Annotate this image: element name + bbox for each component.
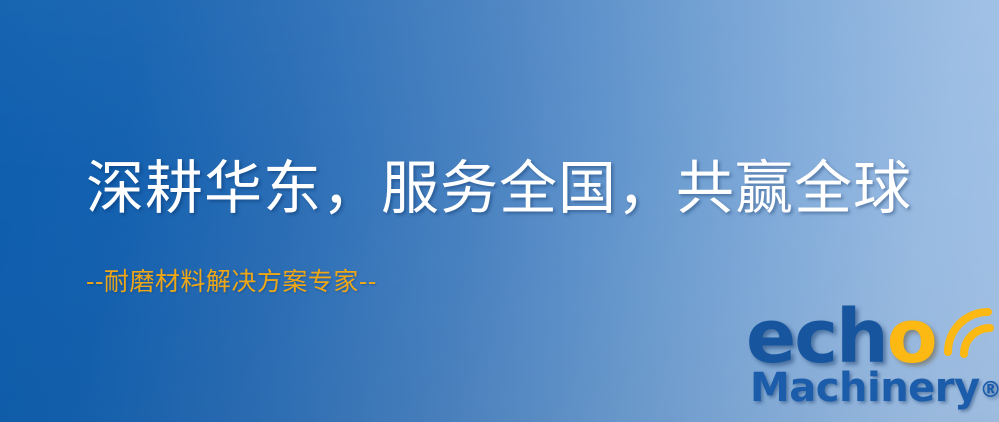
logo-tagline-text: Machinery — [750, 365, 980, 411]
logo-echo-text: echo — [746, 300, 936, 374]
signal-arcs-icon — [930, 294, 999, 364]
logo-tagline: Machinery® — [750, 366, 999, 413]
banner-subtitle: --耐磨材料解决方案专家-- — [86, 266, 377, 298]
company-logo: echo Machinery® — [742, 300, 992, 418]
registered-trademark-icon: ® — [980, 378, 999, 403]
logo-wordmark: echo — [742, 300, 992, 374]
banner-headline: 深耕华东，服务全国，共赢全球 — [86, 155, 912, 221]
promotional-banner: 深耕华东，服务全国，共赢全球 --耐磨材料解决方案专家-- echo Machi… — [0, 0, 999, 422]
